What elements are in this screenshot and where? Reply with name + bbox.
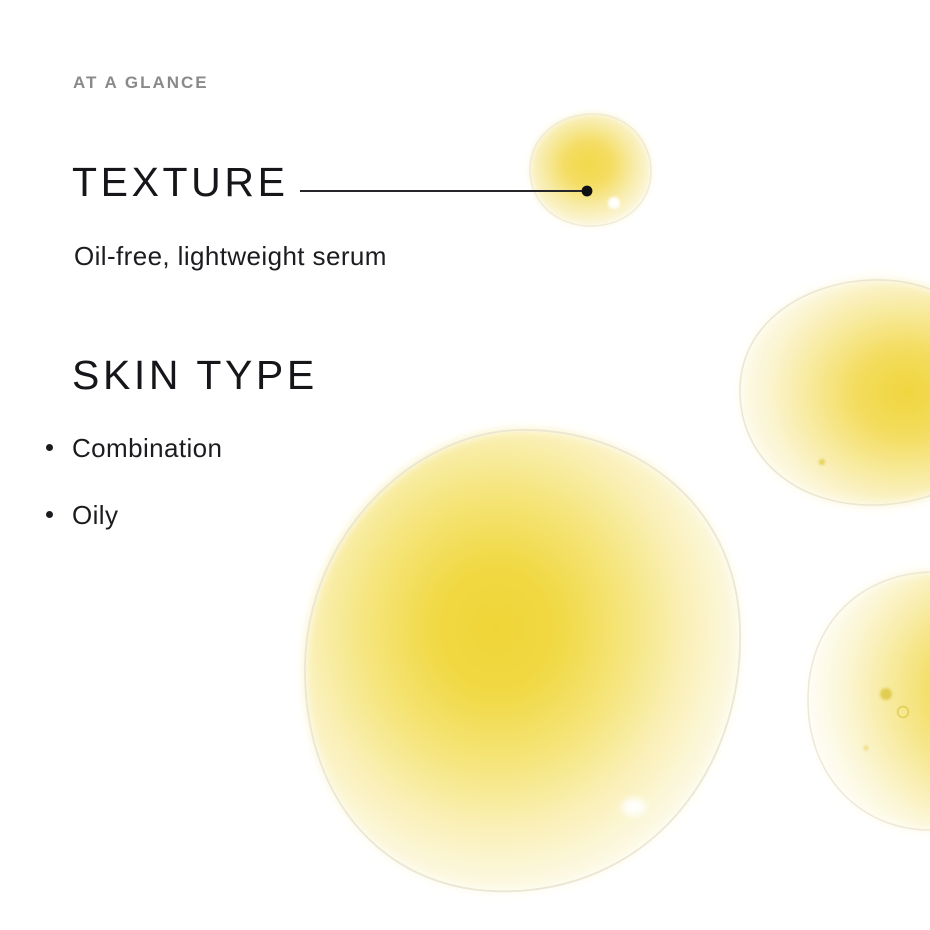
list-item-label: Oily — [72, 500, 118, 530]
bullet-dot-icon — [46, 511, 53, 518]
texture-leader-line — [296, 180, 596, 202]
page-eyebrow: AT A GLANCE — [73, 74, 209, 91]
at-a-glance-panel: AT A GLANCE TEXTURE Oil-free, lightweigh… — [0, 0, 930, 930]
leader-endpoint-dot — [582, 186, 593, 197]
section-title-skin-type: SKIN TYPE — [72, 355, 318, 396]
bullet-dot-icon — [46, 444, 53, 451]
list-item: Combination — [45, 435, 222, 461]
large-center-droplet — [305, 430, 740, 891]
section-title-texture: TEXTURE — [72, 162, 289, 203]
skin-type-list: Combination Oily — [45, 435, 222, 569]
list-item: Oily — [45, 502, 222, 528]
texture-callout-droplet — [530, 114, 651, 226]
lower-right-droplet — [808, 572, 930, 830]
list-item-label: Combination — [72, 433, 222, 463]
texture-description: Oil-free, lightweight serum — [74, 243, 387, 269]
upper-right-droplet — [740, 280, 930, 505]
